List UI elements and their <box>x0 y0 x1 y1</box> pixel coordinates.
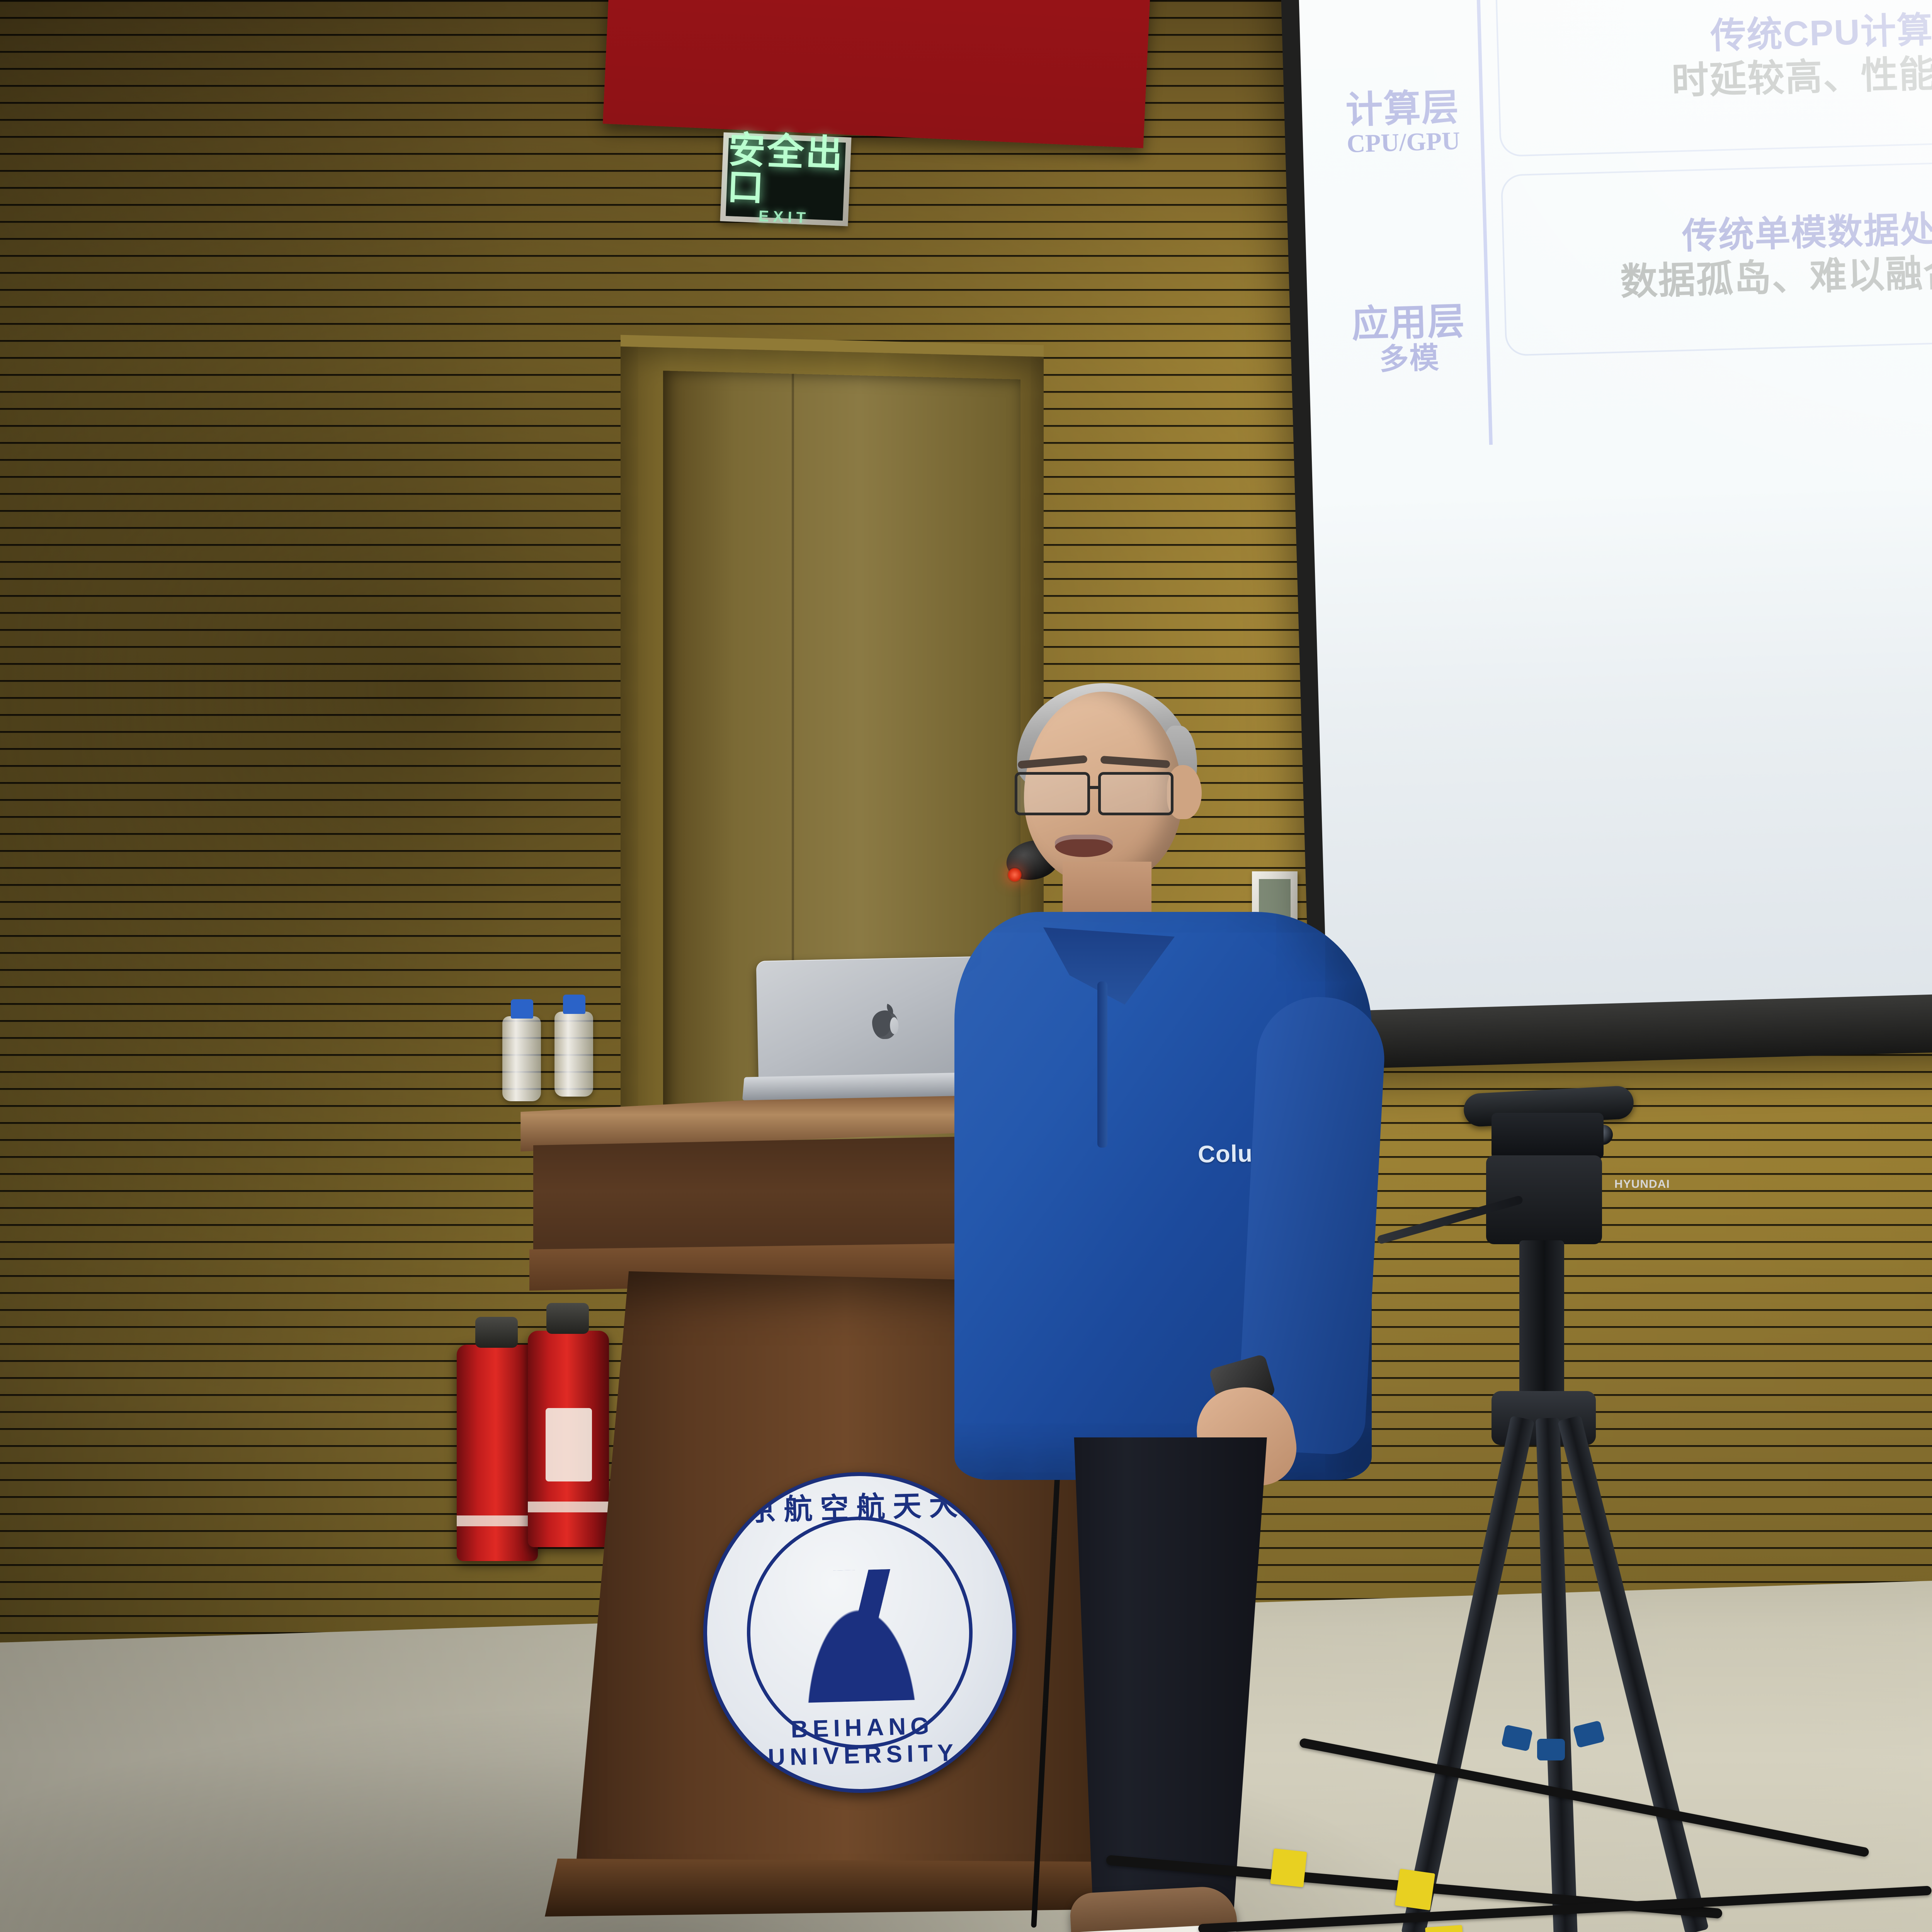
exit-sign-face: 安全出口 EXIT <box>726 138 846 221</box>
layer-label-en: CPU/GPU <box>1346 127 1460 158</box>
tripod-center-column <box>1519 1240 1564 1406</box>
projection-screen: 存储层 NVM 互联层 CXL/RDMA 计算层 CPU/GPU 应用层 多模 <box>1275 0 1932 1070</box>
tripod-leg-lock[interactable] <box>1537 1739 1565 1760</box>
camera-brand-label: HYUNDAI <box>1614 1178 1670 1191</box>
screen-surface: 存储层 NVM 互联层 CXL/RDMA 计算层 CPU/GPU 应用层 多模 <box>1293 0 1932 1011</box>
university-emblem: 北京航空航天大学 1952 BEIHANG UNIVERSITY <box>699 1468 1020 1797</box>
slide-left-column: 传统分布式存储 故障恢复慢 传统分布式互联 容量扩展受限、速度慢 传统CPU计算… <box>1465 0 1932 445</box>
eyeglasses <box>1015 772 1196 818</box>
layer-label-compute: 计算层 CPU/GPU <box>1323 12 1483 233</box>
card-title: 传统CPU计算 <box>1710 9 1932 58</box>
card-subtitle: 数据孤岛、难以融合处理 <box>1620 248 1932 304</box>
emergency-exit-sign: 安全出口 EXIT <box>720 132 852 226</box>
tripod-leg <box>1401 1416 1534 1932</box>
red-banner: 学术 <box>603 0 1156 148</box>
slide-card-legacy-application: 传统单模数据处理 数据孤岛、难以融合处理 <box>1500 156 1932 356</box>
slide-layer-label-column: 存储层 NVM 互联层 CXL/RDMA 计算层 CPU/GPU 应用层 多模 <box>1310 0 1489 449</box>
eyeglass-lens <box>1015 772 1090 815</box>
tripod-leg-lock[interactable] <box>1501 1725 1533 1752</box>
layer-label-cn: 应用层 <box>1351 301 1466 345</box>
layer-label-en: 多模 <box>1379 342 1440 376</box>
camera-mount-body: HYUNDAI <box>1492 1113 1604 1159</box>
water-bottle[interactable] <box>554 1012 593 1097</box>
eyeglass-bridge <box>1090 786 1099 789</box>
water-bottle[interactable] <box>502 1016 541 1101</box>
speaker-mouth <box>1055 835 1113 857</box>
slide-content: 存储层 NVM 互联层 CXL/RDMA 计算层 CPU/GPU 应用层 多模 <box>1293 0 1932 450</box>
lecture-hall-scene: 学术 安全出口 EXIT 存储层 NVM 互联层 <box>0 0 1932 1932</box>
eyeglass-lens <box>1098 772 1173 815</box>
layer-label-application: 应用层 多模 <box>1329 228 1489 449</box>
cable-safety-tape <box>1270 1849 1307 1887</box>
slide-card-legacy-compute: 传统CPU计算 时延较高、性能差 <box>1495 0 1932 157</box>
tripod-leg-lock[interactable] <box>1573 1720 1605 1748</box>
polo-zip-placket <box>1097 981 1107 1148</box>
tripod-leg <box>1558 1415 1709 1932</box>
exit-sign-english-label: EXIT <box>758 208 810 226</box>
card-title: 传统单模数据处理 <box>1682 207 1932 258</box>
layer-label-cn: 计算层 <box>1345 87 1460 131</box>
exit-sign-chinese-label: 安全出口 <box>726 131 846 210</box>
emblem-english-name: BEIHANG UNIVERSITY <box>709 1710 1016 1773</box>
tripod-leg <box>1536 1418 1578 1932</box>
apple-logo-icon <box>872 1010 898 1039</box>
cable-safety-tape <box>1395 1869 1435 1910</box>
speaker-legs <box>1039 1437 1287 1932</box>
card-subtitle: 时延较高、性能差 <box>1671 51 1932 103</box>
